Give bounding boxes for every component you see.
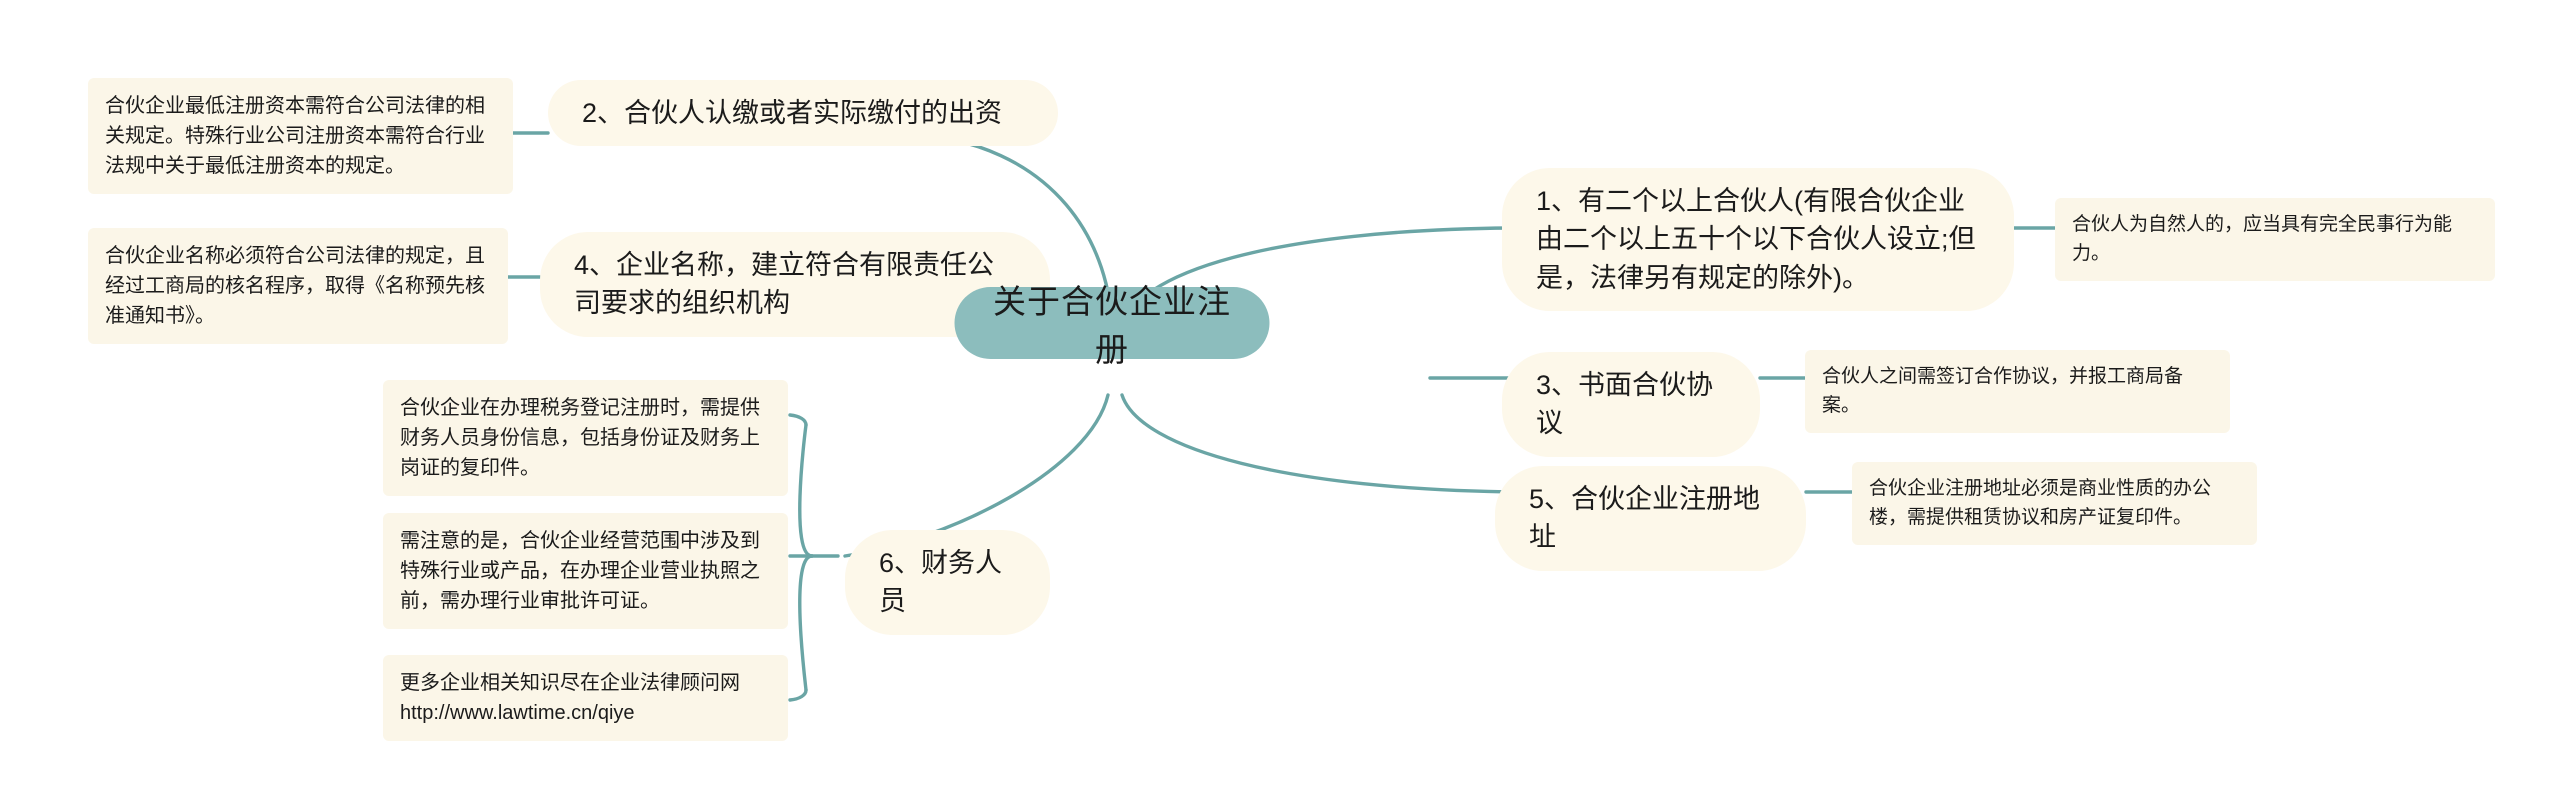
connector-branch-6-to-note-3 [790,690,806,700]
connector-branch-6-to-note-1 [790,415,806,425]
note-node-6-1[interactable]: 合伙企业在办理税务登记注册时，需提供财务人员身份信息，包括身份证及财务上岗证的复… [383,380,788,496]
root-node[interactable]: 关于合伙企业注册 [955,287,1270,359]
branch-node-6[interactable]: 6、财务人员 [845,530,1050,635]
connector-root-to-branch-5 [1122,395,1520,492]
note-node-3-1-text: 合伙人之间需签订合作协议，并报工商局备案。 [1822,363,2213,420]
branch-node-5[interactable]: 5、合伙企业注册地址 [1495,466,1806,571]
note-node-6-3-text: 更多企业相关知识尽在企业法律顾问网http://www.lawtime.cn/q… [400,668,771,728]
branch-node-5-label: 5、合伙企业注册地址 [1529,480,1772,557]
branch-node-6-label: 6、财务人员 [879,544,1016,621]
note-node-3-1[interactable]: 合伙人之间需签订合作协议，并报工商局备案。 [1805,350,2230,433]
branch-node-1-label: 1、有二个以上合伙人(有限合伙企业由二个以上五十个以下合伙人设立;但是，法律另有… [1536,182,1980,297]
note-node-5-1[interactable]: 合伙企业注册地址必须是商业性质的办公楼，需提供租赁协议和房产证复印件。 [1852,462,2257,545]
note-node-2-1-text: 合伙企业最低注册资本需符合公司法律的相关规定。特殊行业公司注册资本需符合行业法规… [105,91,496,181]
branch-node-4-label: 4、企业名称，建立符合有限责任公司要求的组织机构 [574,246,1016,323]
note-node-1-1[interactable]: 合伙人为自然人的，应当具有完全民事行为能力。 [2055,198,2495,281]
note-node-4-1[interactable]: 合伙企业名称必须符合公司法律的规定，且经过工商局的核名程序，取得《名称预先核准通… [88,228,508,344]
note-node-6-2-text: 需注意的是，合伙企业经营范围中涉及到特殊行业或产品，在办理企业营业执照之前，需办… [400,526,771,616]
branch-node-2-label: 2、合伙人认缴或者实际缴付的出资 [582,94,1024,132]
branch-node-1[interactable]: 1、有二个以上合伙人(有限合伙企业由二个以上五十个以下合伙人设立;但是，法律另有… [1502,168,2014,311]
connector-branch-6-spine [800,425,812,556]
note-node-6-2[interactable]: 需注意的是，合伙企业经营范围中涉及到特殊行业或产品，在办理企业营业执照之前，需办… [383,513,788,629]
mindmap-canvas: 关于合伙企业注册 2、合伙人认缴或者实际缴付的出资 合伙企业最低注册资本需符合公… [0,0,2560,810]
branch-node-2[interactable]: 2、合伙人认缴或者实际缴付的出资 [548,80,1058,146]
note-node-2-1[interactable]: 合伙企业最低注册资本需符合公司法律的相关规定。特殊行业公司注册资本需符合行业法规… [88,78,513,194]
note-node-6-1-text: 合伙企业在办理税务登记注册时，需提供财务人员身份信息，包括身份证及财务上岗证的复… [400,393,771,483]
note-node-1-1-text: 合伙人为自然人的，应当具有完全民事行为能力。 [2072,211,2478,268]
root-label: 关于合伙企业注册 [989,275,1236,371]
branch-node-3-label: 3、书面合伙协议 [1536,366,1726,443]
branch-node-3[interactable]: 3、书面合伙协议 [1502,352,1760,457]
connector-branch-6-spine-lower [800,556,812,690]
note-node-5-1-text: 合伙企业注册地址必须是商业性质的办公楼，需提供租赁协议和房产证复印件。 [1869,475,2240,532]
note-node-4-1-text: 合伙企业名称必须符合公司法律的规定，且经过工商局的核名程序，取得《名称预先核准通… [105,241,491,331]
note-node-6-3[interactable]: 更多企业相关知识尽在企业法律顾问网http://www.lawtime.cn/q… [383,655,788,741]
